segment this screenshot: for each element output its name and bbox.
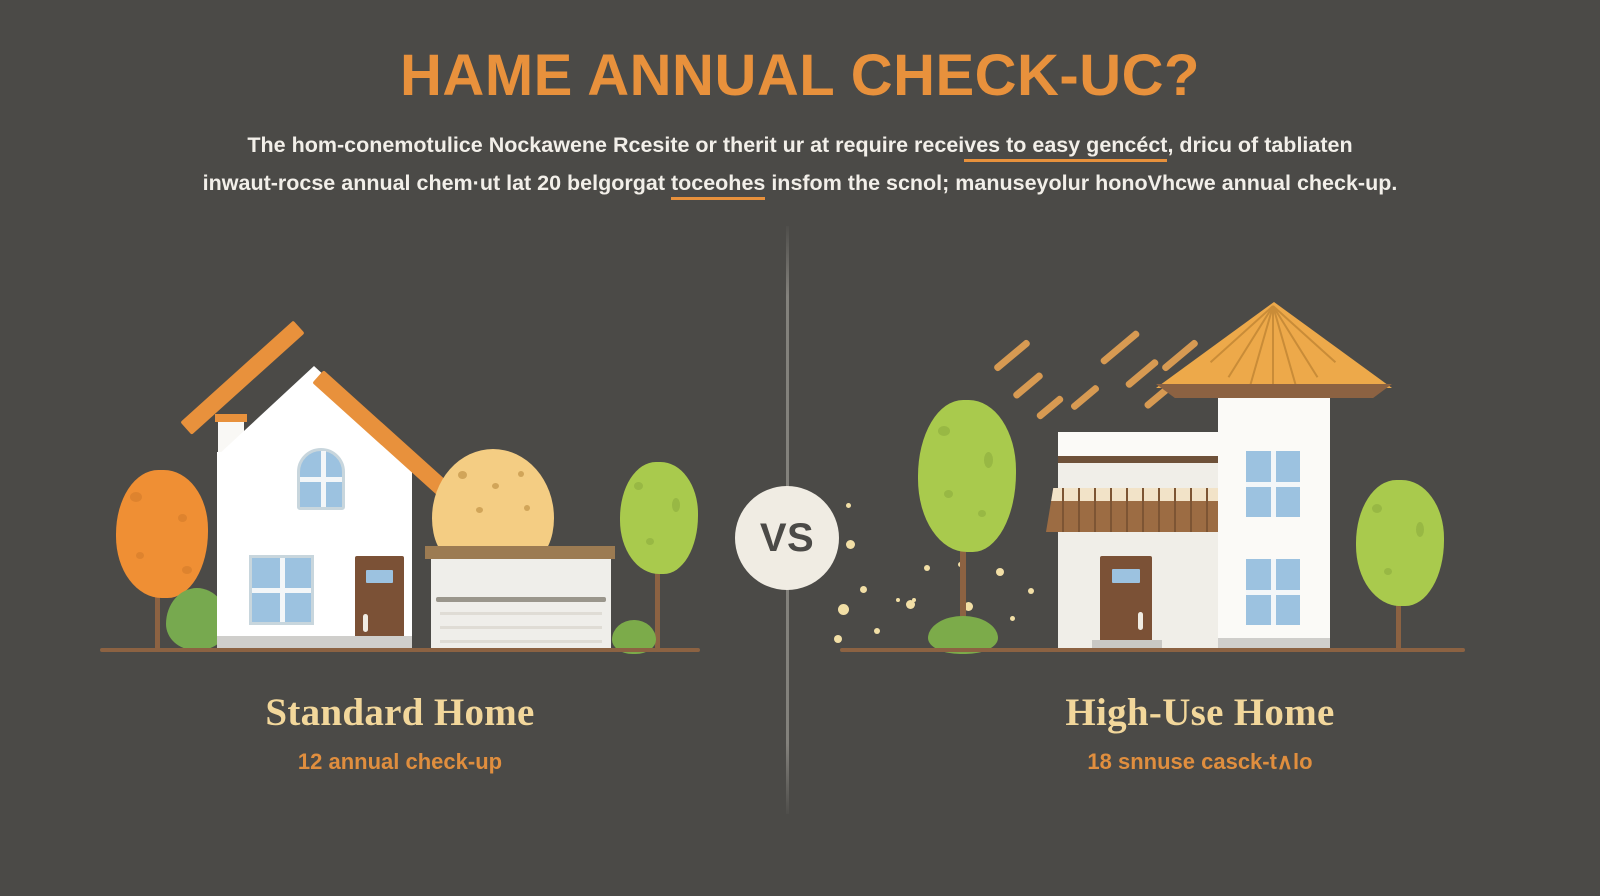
storefront-trim-line (1058, 456, 1218, 463)
ground-line-right (840, 648, 1465, 652)
high-use-home-label-group: High-Use Home 18 snnuse casck-t∧lo (800, 690, 1600, 775)
awning-slat-4 (1110, 488, 1112, 532)
awning-slat-3 (1094, 488, 1096, 532)
awning-slat-9 (1190, 488, 1192, 532)
versus-badge: VS (735, 486, 839, 590)
tan-bush-spot-4 (476, 507, 483, 513)
tan-bush-spot-5 (524, 505, 530, 511)
storefront-door-window (1112, 569, 1140, 583)
ground-line-left (100, 648, 700, 652)
green-tree-tall-leaf-spot-2 (984, 452, 993, 468)
awning-valance (1046, 488, 1228, 501)
storefront-top-band (1058, 432, 1218, 456)
green-tree-right-crown (620, 462, 698, 574)
awning-canopy (1046, 488, 1228, 532)
orange-tree-leaf-spot-1 (130, 492, 142, 502)
square-window-mullion-horizontal (252, 588, 311, 593)
tan-bush-spot-2 (492, 483, 499, 489)
panel-high-use-home: High-Use Home 18 snnuse casck-t∧lo (800, 0, 1600, 896)
standard-home-title: Standard Home (0, 690, 800, 735)
speed-dash-1 (993, 339, 1031, 373)
arched-window (297, 448, 345, 510)
garage-roof-trim (425, 546, 615, 559)
dust-dot-5 (874, 628, 880, 634)
dust-dot-16 (896, 598, 900, 602)
tower-window-lower-mullion-horizontal (1246, 590, 1300, 595)
green-tree-short-crown (1356, 480, 1444, 606)
garage-door-line-3 (440, 626, 602, 629)
awning-slat-2 (1078, 488, 1080, 532)
front-door-handle (363, 614, 368, 632)
tower-roof-rib-4 (1272, 306, 1274, 392)
infographic-canvas: HAME ANNUAL CHECK-UC? The hom-conemotuli… (0, 0, 1600, 896)
green-tree-tall-leaf-spot-3 (944, 490, 953, 498)
green-tree-short-leaf-spot-2 (1416, 522, 1424, 537)
dust-dot-1 (846, 540, 855, 549)
versus-label: VS (760, 516, 814, 561)
awning-slat-5 (1126, 488, 1128, 532)
tower-window-upper-mullion-horizontal (1246, 482, 1300, 487)
green-tree-short-leaf-spot-3 (1384, 568, 1392, 575)
green-tree-tall-leaf-spot-4 (978, 510, 986, 517)
green-tree-tall-crown (918, 400, 1016, 552)
square-window (249, 555, 314, 625)
dust-dot-2 (860, 586, 867, 593)
standard-home-label-group: Standard Home 12 annual check-up (0, 690, 800, 775)
dust-dot-7 (912, 598, 916, 602)
dust-dot-8 (924, 565, 930, 571)
green-tree-tall-leaf-spot-1 (938, 426, 950, 436)
high-use-home-title: High-Use Home (800, 690, 1600, 735)
awning-slat-1 (1062, 488, 1064, 532)
tan-bush-spot-1 (458, 471, 467, 479)
panel-standard-home: Standard Home 12 annual check-up (0, 0, 800, 896)
orange-tree-leaf-spot-2 (178, 514, 187, 522)
dust-dot-15 (846, 503, 851, 508)
awning-slat-7 (1158, 488, 1160, 532)
green-tree-right-leaf-spot-2 (672, 498, 680, 512)
green-tree-right-leaf-spot-3 (646, 538, 654, 545)
dust-dot-12 (996, 568, 1004, 576)
awning-slat-10 (1206, 488, 1208, 532)
high-use-home-subtitle: 18 snnuse casck-t∧lo (800, 749, 1600, 775)
high-use-home-illustration (800, 0, 1600, 680)
garage-door-line-2 (440, 612, 602, 615)
orange-tree-leaf-spot-4 (182, 566, 192, 574)
front-door-window (366, 570, 393, 583)
arched-window-mullion-horizontal (300, 477, 342, 482)
tan-bush-spot-3 (518, 471, 524, 477)
green-tree-right-leaf-spot-1 (634, 482, 643, 490)
dust-dot-4 (834, 635, 842, 643)
dust-dot-3 (838, 604, 849, 615)
house-foundation (217, 636, 412, 648)
garage-body (431, 559, 611, 648)
green-tree-short-leaf-spot-1 (1372, 504, 1382, 513)
front-door (355, 556, 404, 648)
storefront-door (1100, 556, 1152, 648)
storefront-door-handle (1138, 612, 1143, 630)
orange-tree-leaf-spot-3 (136, 552, 144, 559)
tower-roof-brim (1156, 384, 1392, 398)
speed-dash-5 (1099, 329, 1140, 365)
speed-dash-3 (1035, 395, 1064, 421)
tower-window-lower (1243, 556, 1303, 628)
garage-door-line-1 (436, 597, 606, 602)
tower-window-upper (1243, 448, 1303, 520)
speed-dash-6 (1124, 358, 1159, 389)
awning-slat-6 (1142, 488, 1144, 532)
speed-dash-2 (1012, 371, 1044, 400)
standard-home-illustration (0, 0, 800, 680)
dust-dot-14 (1010, 616, 1015, 621)
awning-slat-8 (1174, 488, 1176, 532)
orange-tree-crown (116, 470, 208, 598)
speed-dash-4 (1070, 384, 1101, 411)
dust-dot-13 (1028, 588, 1034, 594)
standard-home-subtitle: 12 annual check-up (0, 749, 800, 775)
tan-bush (432, 449, 554, 557)
